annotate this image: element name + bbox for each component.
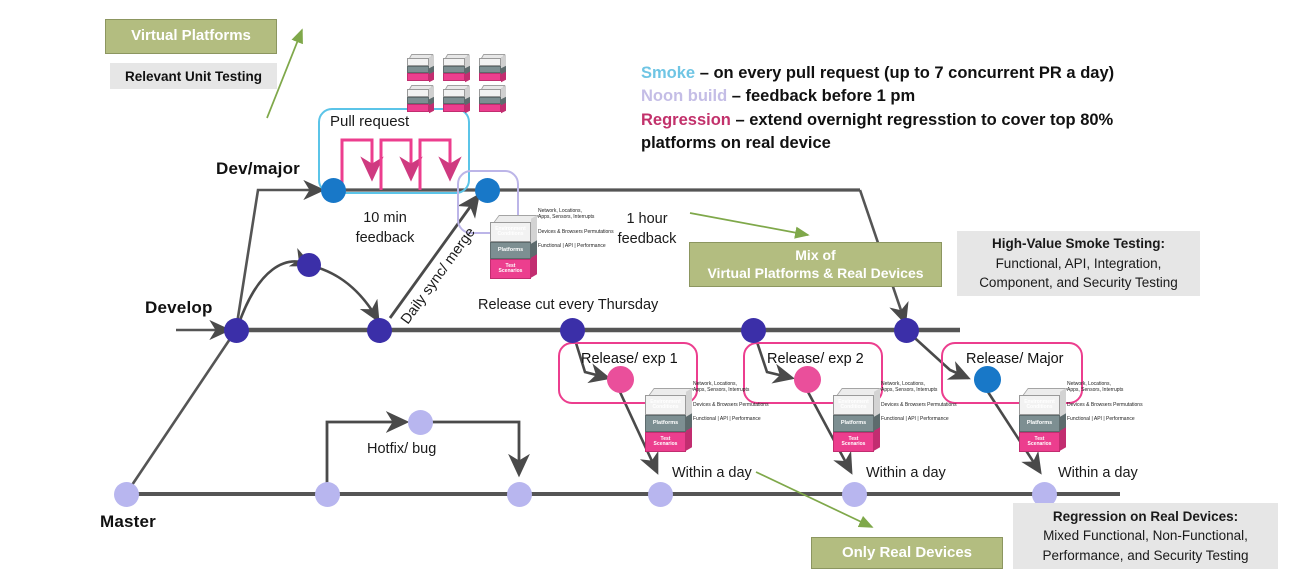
commit-node-master-3[interactable] [507,482,532,507]
commit-node-develop-5[interactable] [894,318,919,343]
smoke-box-line2: Component, and Security Testing [979,273,1178,293]
label-pull-request: Pull request [330,113,409,130]
label-hotfix-bug: Hotfix/ bug [367,441,436,457]
callout-only-real-devices[interactable]: Only Real Devices [811,537,1003,569]
commit-node-feature[interactable] [297,253,321,277]
label-within-a-day-3: Within a day [1058,465,1138,481]
cube-note-3: Functional | API | Performance [538,244,614,250]
regression-box-title: Regression on Real Devices: [1053,507,1238,527]
cube-layer-env-l2: Conditions [497,232,523,237]
regression-box-line1: Mixed Functional, Non-Functional, [1043,526,1248,546]
commit-node-develop-4[interactable] [741,318,766,343]
diagram-canvas: Dev/major Develop Master Pull request 10… [0,0,1289,569]
cube-notes-noon: Network, Locations, Apps, Sensors, Inter… [538,209,614,250]
commit-node-master-1[interactable] [114,482,139,507]
commit-node-dev-major-2[interactable] [475,178,500,203]
cube-notes-release-2: Network, Locations, Apps, Sensors, Inter… [881,382,957,423]
commit-node-develop-1[interactable] [224,318,249,343]
cube-note-2: Devices & Browsers Permutations [881,403,957,409]
commit-node-release-2[interactable] [794,366,821,393]
cube-layer-test-l2: Scenarios [654,442,678,447]
legend-text-regression: – extend overnight regresstion to cover … [731,111,1113,129]
label-ten-min-feedback-line1: 10 min [340,209,430,229]
branch-label-master: Master [100,512,156,532]
legend-term-regression: Regression [641,111,731,129]
regression-box-line2: Performance, and Security Testing [1042,546,1248,566]
commit-node-master-2[interactable] [315,482,340,507]
callout-regression-on-real-devices[interactable]: Regression on Real Devices: Mixed Functi… [1013,503,1278,569]
commit-node-release-major[interactable] [974,366,1001,393]
cube-layer-test-l2: Scenarios [1028,442,1052,447]
commit-node-dev-major-1[interactable] [321,178,346,203]
cube-note-2: Devices & Browsers Permutations [693,403,769,409]
label-within-a-day-1: Within a day [672,465,752,481]
legend-text-regression-cont: platforms on real device [641,134,831,152]
cube-notes-release-major: Network, Locations, Apps, Sensors, Inter… [1067,382,1143,423]
label-one-hour-feedback-line1: 1 hour [603,210,691,230]
commit-node-master-5[interactable] [842,482,867,507]
legend-row-smoke: Smoke – on every pull request (up to 7 c… [641,62,1181,85]
commit-node-release-1[interactable] [607,366,634,393]
commit-node-develop-3[interactable] [560,318,585,343]
callout-virtual-platforms-label: Virtual Platforms [131,27,251,45]
release-branch-label-2: Release/ exp 2 [767,351,864,367]
label-one-hour-feedback-line2: feedback [603,230,691,250]
label-ten-min-feedback-line2: feedback [340,229,430,249]
legend-row-regression: Regression – extend overnight regresstio… [641,109,1181,132]
legend-text-smoke: – on every pull request (up to 7 concurr… [695,64,1114,82]
legend-row-noon: Noon build – feedback before 1 pm [641,85,1181,108]
cube-layer-env-l2: Conditions [1026,405,1052,410]
commit-node-develop-2[interactable] [367,318,392,343]
release-branch-label-3: Release/ Major [966,351,1064,367]
callout-relevant-unit-testing[interactable]: Relevant Unit Testing [110,63,277,89]
smoke-box-title: High-Value Smoke Testing: [992,234,1165,254]
cube-layer-env-l2: Conditions [840,405,866,410]
callout-only-real-devices-label: Only Real Devices [842,544,972,562]
cube-layer-platforms: Platforms [1027,421,1052,427]
legend: Smoke – on every pull request (up to 7 c… [641,62,1181,156]
cube-layer-platforms: Platforms [841,421,866,427]
callout-high-value-smoke-testing[interactable]: High-Value Smoke Testing: Functional, AP… [957,231,1200,296]
cube-layer-test-l2: Scenarios [842,442,866,447]
commit-node-master-4[interactable] [648,482,673,507]
legend-row-regression-cont: platforms on real device [641,132,1181,155]
label-release-cut: Release cut every Thursday [478,297,658,313]
cube-note-2: Devices & Browsers Permutations [538,230,614,236]
label-one-hour-feedback: 1 hour feedback [603,210,691,249]
callout-relevant-unit-testing-label: Relevant Unit Testing [125,69,262,84]
legend-text-noon: – feedback before 1 pm [727,87,915,105]
legend-term-noon: Noon build [641,87,727,105]
branch-label-develop: Develop [145,298,213,318]
legend-term-smoke: Smoke [641,64,695,82]
cube-note-3: Functional | API | Performance [693,417,769,423]
callout-mix-of-platforms[interactable]: Mix of Virtual Platforms & Real Devices [689,242,942,287]
commit-node-hotfix[interactable] [408,410,433,435]
cube-notes-release-1: Network, Locations, Apps, Sensors, Inter… [693,382,769,423]
label-within-a-day-2: Within a day [866,465,946,481]
callout-mix-line2: Virtual Platforms & Real Devices [707,265,923,282]
release-branch-label-1: Release/ exp 1 [581,351,678,367]
label-ten-min-feedback: 10 min feedback [340,209,430,248]
mini-cube-grid [407,54,507,110]
smoke-box-line1: Functional, API, Integration, [996,254,1162,274]
cube-note-3: Functional | API | Performance [881,417,957,423]
callout-virtual-platforms[interactable]: Virtual Platforms [105,19,277,54]
branch-label-dev-major: Dev/major [216,159,300,179]
cube-layer-platforms: Platforms [498,248,523,254]
cube-layer-env-l2: Conditions [652,405,678,410]
cube-note-3: Functional | API | Performance [1067,417,1143,423]
callout-mix-line1: Mix of [795,247,835,264]
cube-layer-platforms: Platforms [653,421,678,427]
cube-layer-test-l2: Scenarios [499,269,523,274]
cube-note-2: Devices & Browsers Permutations [1067,403,1143,409]
